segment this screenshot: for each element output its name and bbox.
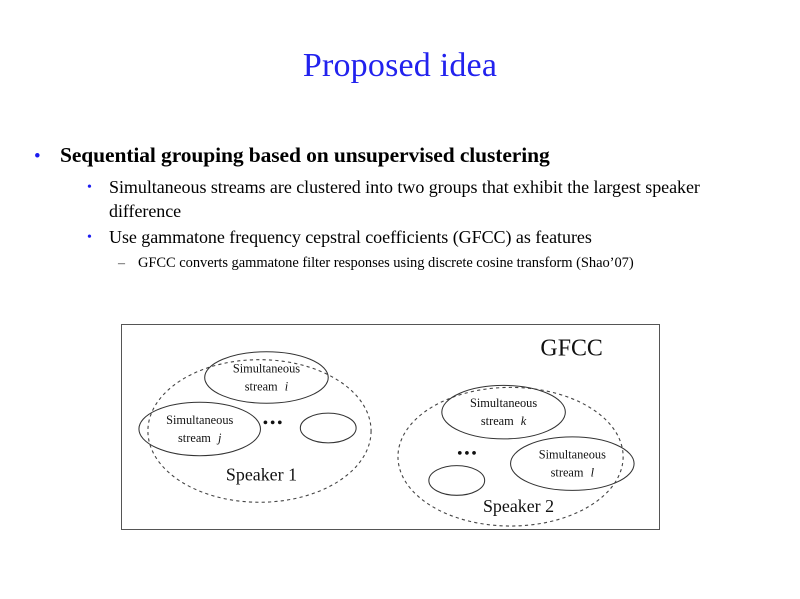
speaker1-stream-j-line2: stream j xyxy=(178,431,222,445)
bullet-level1-text: Sequential grouping based on unsupervise… xyxy=(60,142,766,169)
speaker1-stream-j-index: j xyxy=(216,431,222,445)
speaker2-stream-l-word: stream xyxy=(551,466,584,480)
speaker1-stream-j-word: stream xyxy=(178,431,211,445)
speaker2-ellipsis: ••• xyxy=(457,446,479,463)
page-title: Proposed idea xyxy=(0,46,800,86)
bullet-level2-1: • Use gammatone frequency cepstral coeff… xyxy=(87,225,766,249)
bullet-marker-icon: • xyxy=(87,225,109,245)
speaker2-stream-k-line1: Simultaneous xyxy=(470,396,537,410)
bullet-level2-text: Simultaneous streams are clustered into … xyxy=(109,175,766,223)
bullet-marker-icon: • xyxy=(34,142,60,166)
speaker2-stream-l-line2: stream l xyxy=(551,466,595,480)
bullet-level3-0: – GFCC converts gammatone filter respons… xyxy=(118,254,766,273)
speaker1-empty-stream-ellipse xyxy=(300,413,356,443)
clustering-figure: GFCC Simultaneous stream i Simultaneous … xyxy=(121,324,660,530)
speaker1-stream-i-line2: stream i xyxy=(245,379,289,393)
speaker1-label: Speaker 1 xyxy=(226,465,297,485)
speaker1-stream-j-ellipse xyxy=(139,402,261,455)
speaker1-stream-i-index: i xyxy=(285,379,289,393)
speaker2-stream-k-index: k xyxy=(521,414,527,428)
speaker1-stream-j-line1: Simultaneous xyxy=(166,413,233,427)
bullet-level2-0: • Simultaneous streams are clustered int… xyxy=(87,175,766,223)
speaker2-stream-k-line2: stream k xyxy=(481,414,527,428)
speaker1-stream-i-ellipse xyxy=(205,352,329,403)
speaker2-stream-l-line1: Simultaneous xyxy=(539,448,606,462)
speaker2-stream-l-ellipse xyxy=(511,437,635,490)
figure-gfcc-label: GFCC xyxy=(540,336,602,362)
speaker2-label: Speaker 2 xyxy=(483,496,554,516)
slide-canvas: Proposed idea • Sequential grouping base… xyxy=(0,0,800,599)
bullet-marker-icon: • xyxy=(87,175,109,195)
bullet-level1: • Sequential grouping based on unsupervi… xyxy=(34,142,766,169)
bullet-level3-text: GFCC converts gammatone filter responses… xyxy=(138,254,766,273)
speaker1-stream-i-word: stream xyxy=(245,379,278,393)
speaker1-stream-i-line1: Simultaneous xyxy=(233,362,300,376)
clustering-diagram-svg: GFCC Simultaneous stream i Simultaneous … xyxy=(122,325,659,529)
dash-marker-icon: – xyxy=(118,254,138,271)
speaker2-stream-k-ellipse xyxy=(442,385,566,438)
speaker1-ellipsis: ••• xyxy=(263,415,285,432)
slide-body: • Sequential grouping based on unsupervi… xyxy=(34,142,766,273)
speaker2-stream-k-word: stream xyxy=(481,414,514,428)
speaker2-stream-l-index: l xyxy=(591,466,595,480)
bullet-level2-text: Use gammatone frequency cepstral coeffic… xyxy=(109,225,766,249)
speaker2-empty-stream-ellipse xyxy=(429,466,485,496)
